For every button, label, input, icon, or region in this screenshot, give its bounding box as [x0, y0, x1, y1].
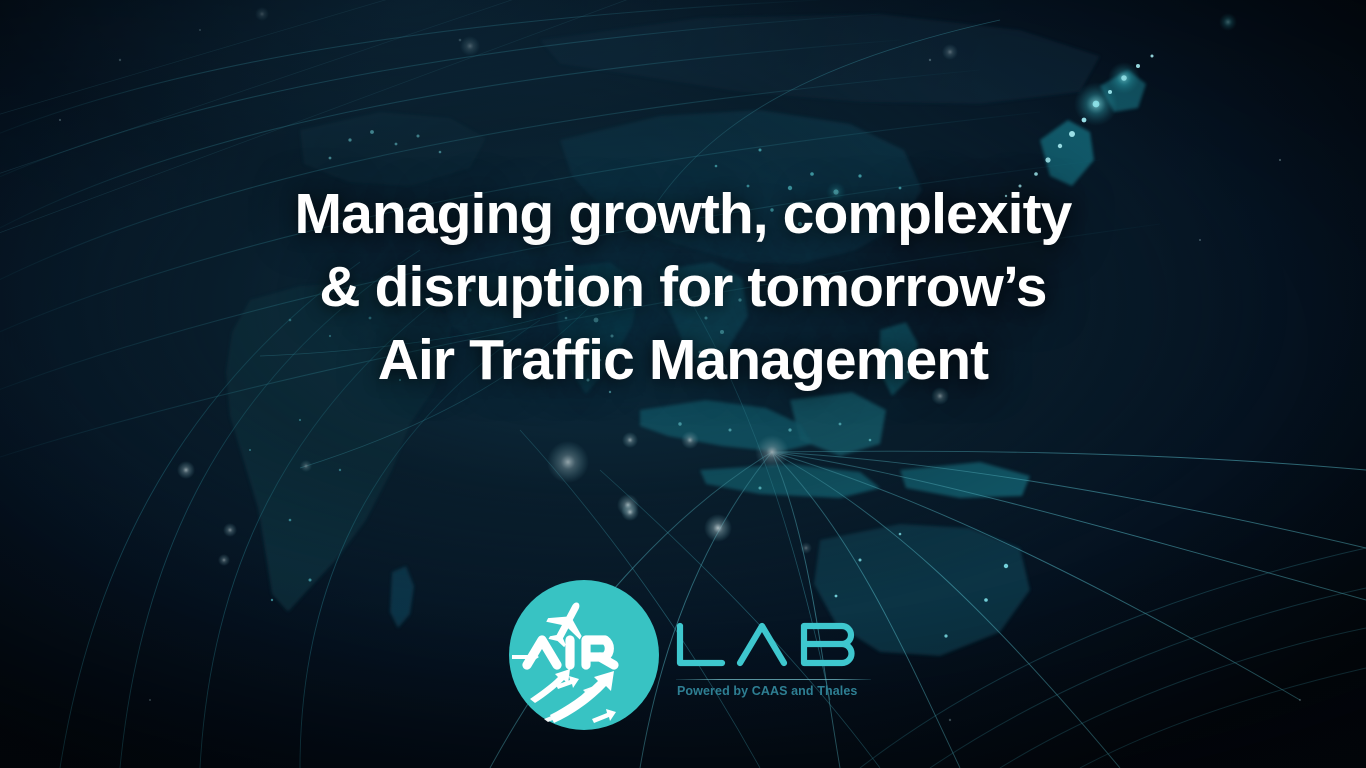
- airlab-logo: Powered by CAAS and Thales: [508, 579, 868, 731]
- title-line-2: & disruption for tomorrow’s: [0, 251, 1366, 324]
- logo-divider: [676, 679, 871, 680]
- airlab-wordmark: Powered by CAAS and Thales: [674, 612, 874, 698]
- logo-tagline: Powered by CAAS and Thales: [677, 684, 874, 698]
- page-title: Managing growth, complexity & disruption…: [0, 178, 1366, 397]
- title-line-3: Air Traffic Management: [0, 324, 1366, 397]
- title-line-1: Managing growth, complexity: [0, 178, 1366, 251]
- lab-lettermark: [674, 618, 874, 672]
- presentation-slide: Managing growth, complexity & disruption…: [0, 0, 1366, 768]
- airlab-badge-icon: [508, 579, 660, 731]
